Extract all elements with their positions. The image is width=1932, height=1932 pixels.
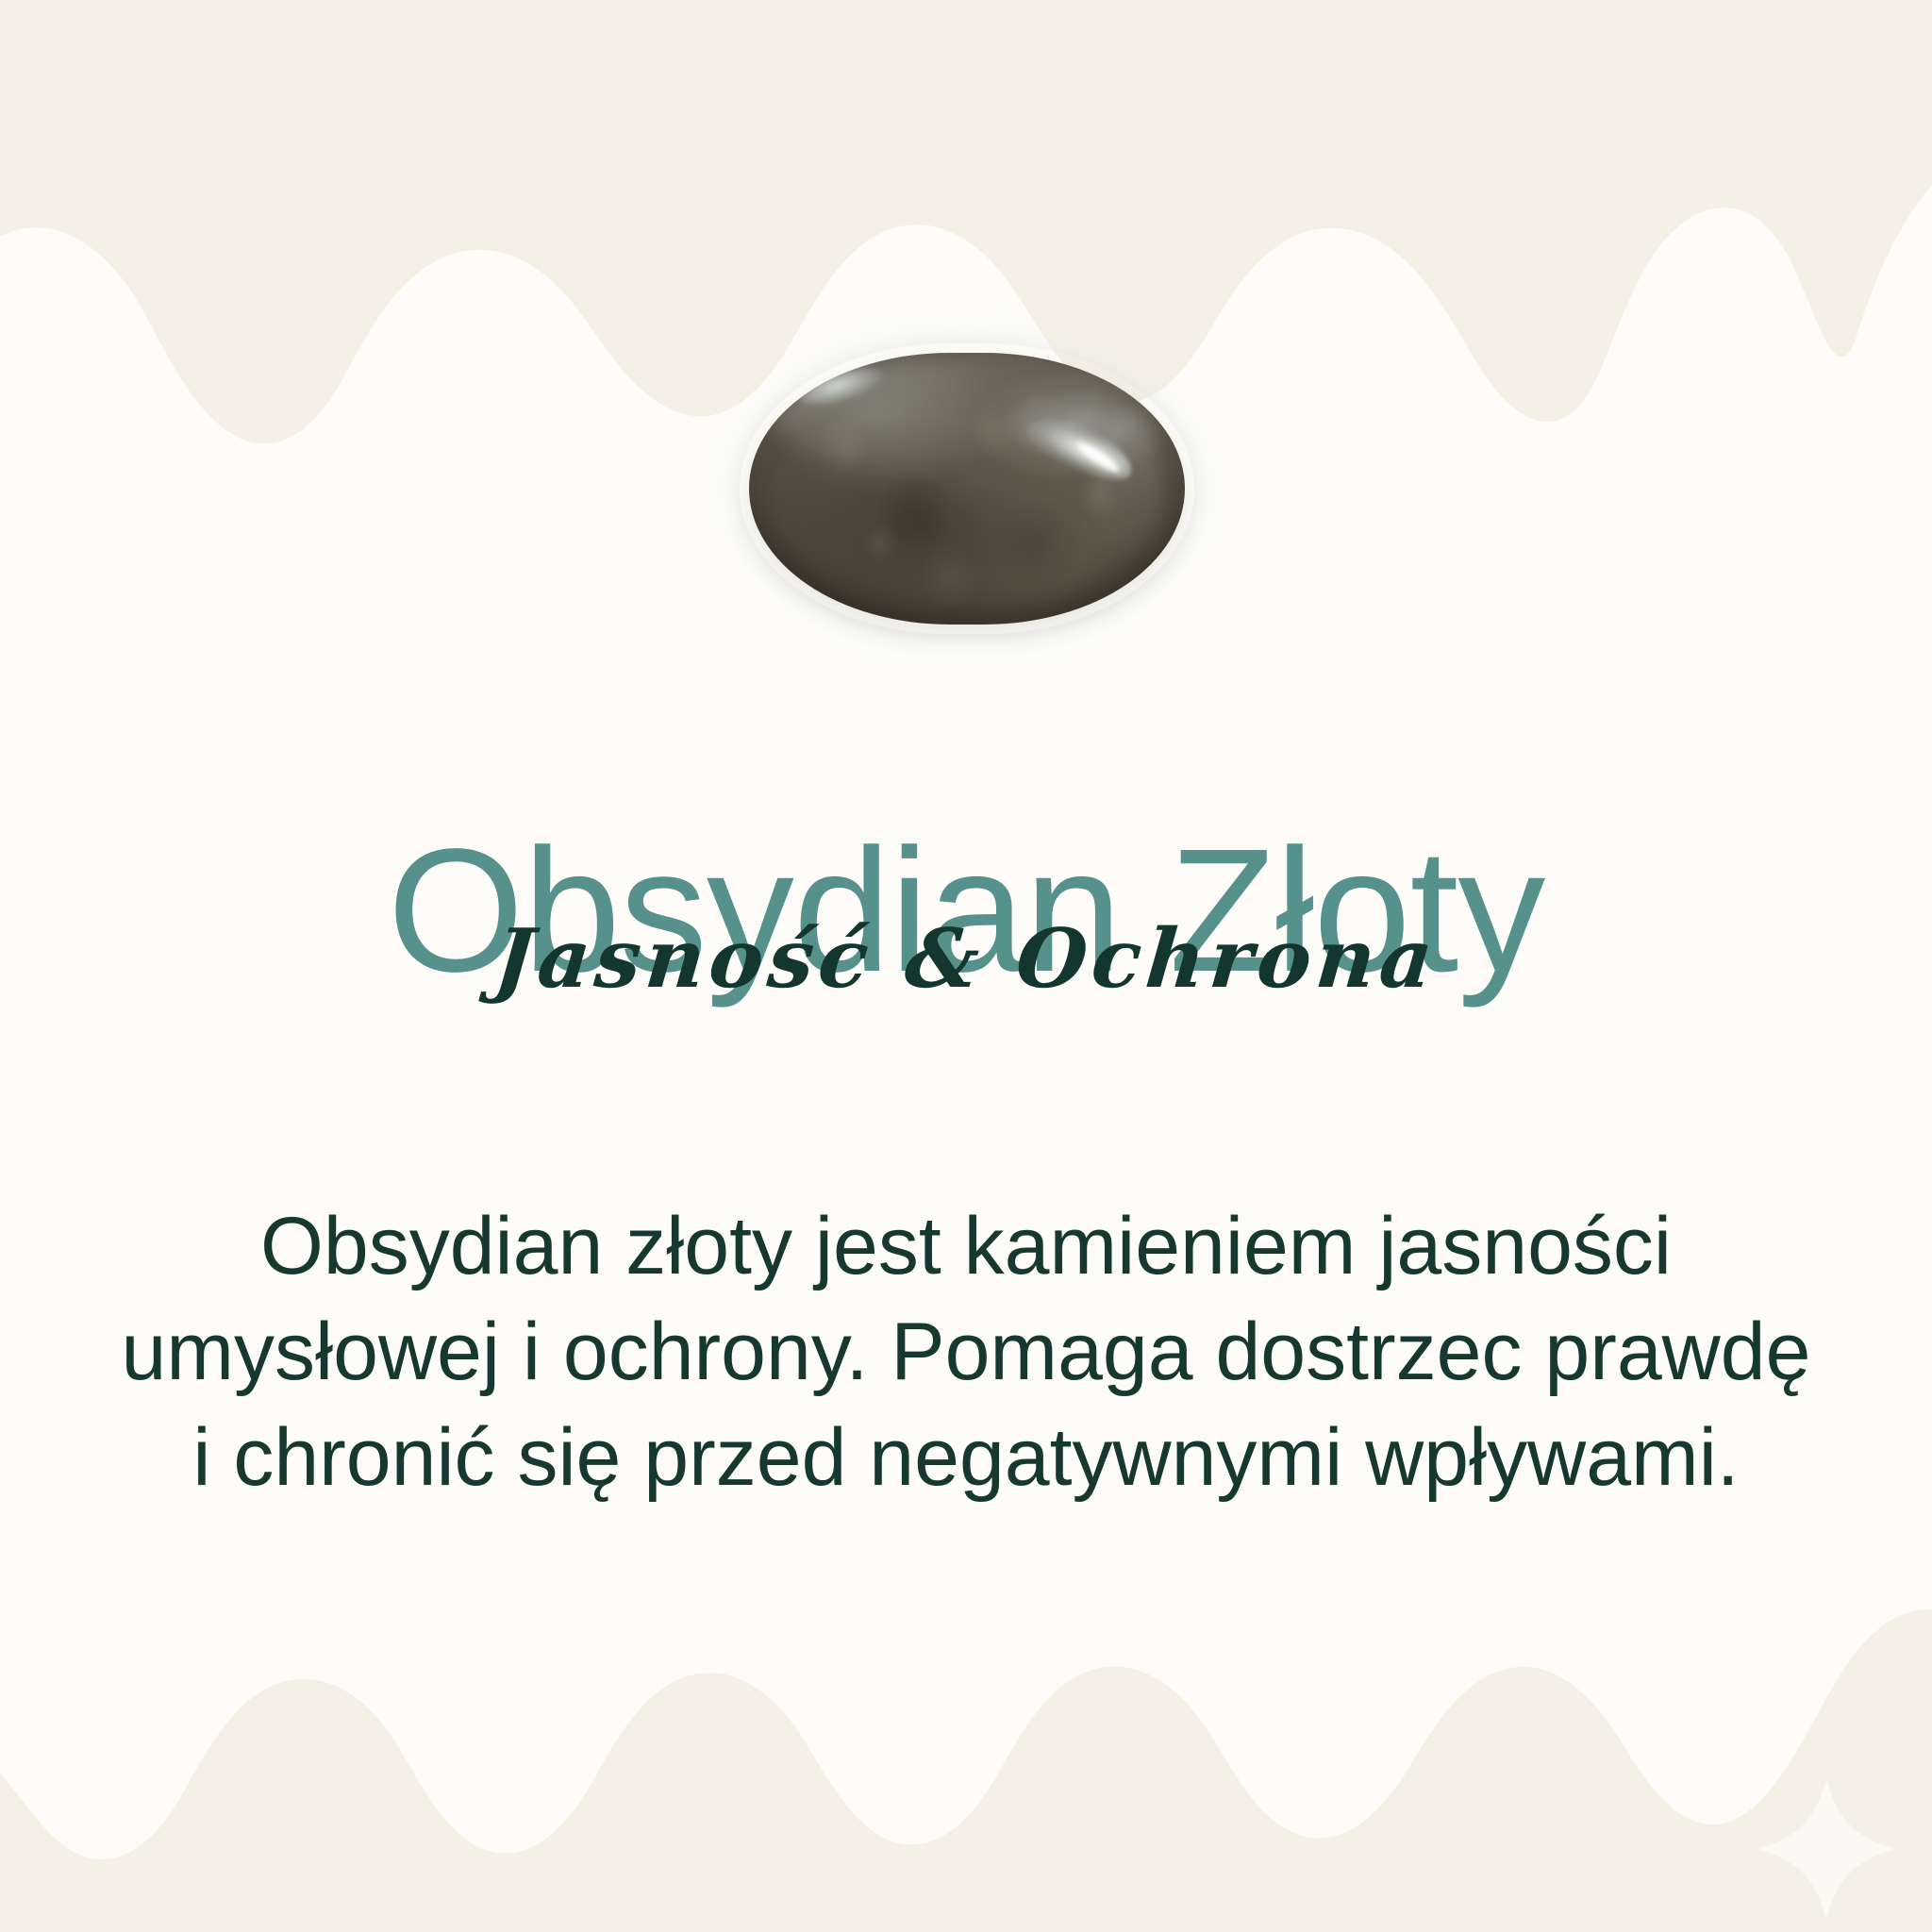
description-line: Obsydian złoty jest kamieniem jasności [89, 1194, 1843, 1300]
card-content: Obsydian Złoty Jasność & Ochrona Obsydia… [0, 0, 1932, 1932]
subtitle-tagline: Jasność & Ochrona [0, 915, 1932, 1005]
stone-info-card: Obsydian Złoty Jasność & Ochrona Obsydia… [0, 0, 1932, 1932]
description-line: i chronić się przed negatywnymi wpływami… [89, 1406, 1843, 1511]
description-line: umysłowej i ochrony. Pomaga dostrzec pra… [89, 1300, 1843, 1406]
description-paragraph: Obsydian złoty jest kamieniem jasności u… [89, 1194, 1843, 1510]
